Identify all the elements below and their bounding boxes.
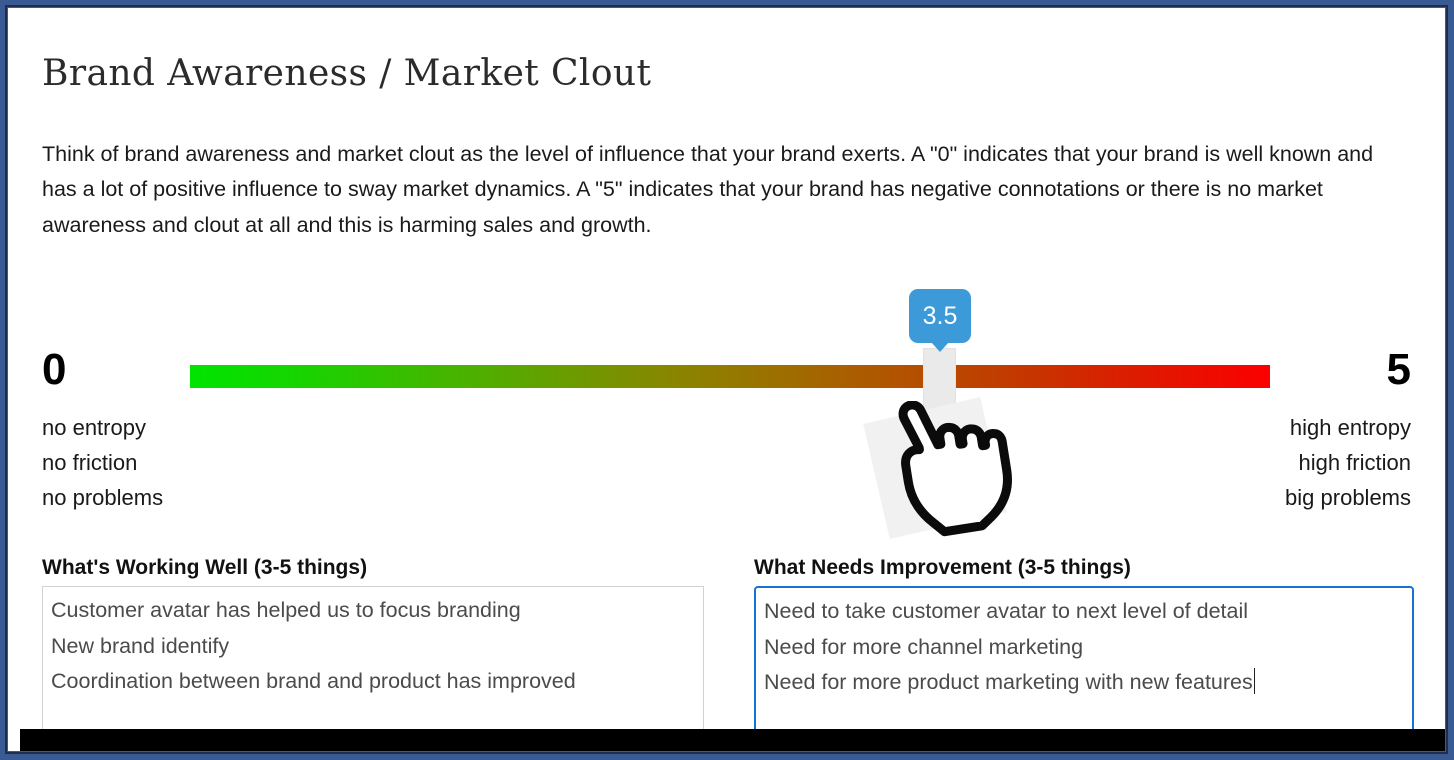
scale-max-captions: high entropy high friction big problems [1285,410,1411,515]
mouse-cursor-overlay [863,401,1013,541]
application-window-frame: Brand Awareness / Market Clout Think of … [0,0,1454,760]
bottom-taskbar [20,729,1445,751]
text-caret [1254,668,1255,694]
page-title: Brand Awareness / Market Clout [42,53,651,94]
scale-min-captions: no entropy no friction no problems [42,410,163,515]
needs-improvement-label: What Needs Improvement (3-5 things) [754,556,1131,580]
worksheet-page: Brand Awareness / Market Clout Think of … [8,8,1445,751]
scale-max-label: 5 [1387,348,1411,392]
slider-track[interactable] [190,365,1270,388]
needs-improvement-textarea[interactable]: Need to take customer avatar to next lev… [754,586,1414,738]
working-well-textarea[interactable]: Customer avatar has helped us to focus b… [42,586,704,738]
cursor-backdrop [863,397,1006,539]
slider-value-tooltip: 3.5 [909,289,971,343]
pointing-hand-cursor-icon [863,401,1013,541]
needs-improvement-text: Need to take customer avatar to next lev… [764,599,1253,694]
working-well-label: What's Working Well (3-5 things) [42,556,367,580]
intro-paragraph: Think of brand awareness and market clou… [42,137,1412,244]
scale-min-label: 0 [42,348,66,392]
slider-handle[interactable] [923,348,956,414]
